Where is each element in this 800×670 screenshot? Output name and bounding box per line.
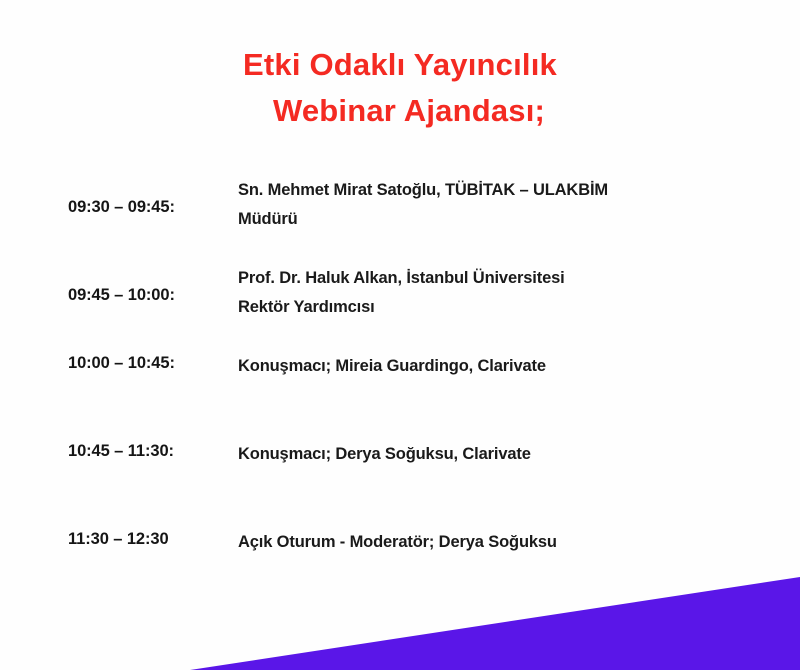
agenda-row-time: 09:30 – 09:45: <box>68 176 238 218</box>
webinar-agenda-slide: Etki Odaklı Yayıncılık Webinar Ajandası;… <box>0 0 800 670</box>
agenda-row-time: 10:00 – 10:45: <box>68 352 238 374</box>
agenda-row: 09:45 – 10:00: Prof. Dr. Haluk Alkan, İs… <box>0 264 800 352</box>
agenda-row-time: 10:45 – 11:30: <box>68 440 238 462</box>
agenda-row-description: Sn. Mehmet Mirat Satoğlu, TÜBİTAK – ULAK… <box>238 176 716 234</box>
agenda-row-description-line-2: Rektör Yardımcısı <box>238 293 716 322</box>
agenda-row-description-line-1: Açık Oturum - Moderatör; Derya Soğuksu <box>238 528 716 557</box>
slide-title: Etki Odaklı Yayıncılık Webinar Ajandası; <box>0 42 800 134</box>
agenda-row-time: 09:45 – 10:00: <box>68 264 238 306</box>
agenda-row-description-line-1: Konuşmacı; Derya Soğuksu, Clarivate <box>238 440 716 469</box>
title-line-2: Webinar Ajandası; <box>0 88 800 134</box>
agenda-row-description: Konuşmacı; Derya Soğuksu, Clarivate <box>238 440 716 469</box>
agenda-row-description: Açık Oturum - Moderatör; Derya Soğuksu <box>238 528 716 557</box>
agenda-row-description: Prof. Dr. Haluk Alkan, İstanbul Üniversi… <box>238 264 716 322</box>
agenda-row: 11:30 – 12:30 Açık Oturum - Moderatör; D… <box>0 528 800 616</box>
agenda-row: 09:30 – 09:45: Sn. Mehmet Mirat Satoğlu,… <box>0 176 800 264</box>
agenda-row-description: Konuşmacı; Mireia Guardingo, Clarivate <box>238 352 716 381</box>
agenda-list: 09:30 – 09:45: Sn. Mehmet Mirat Satoğlu,… <box>0 176 800 616</box>
agenda-row-description-line-1: Prof. Dr. Haluk Alkan, İstanbul Üniversi… <box>238 264 716 293</box>
agenda-row-description-line-2: Müdürü <box>238 205 716 234</box>
agenda-row-time: 11:30 – 12:30 <box>68 528 238 550</box>
agenda-row-description-line-1: Sn. Mehmet Mirat Satoğlu, TÜBİTAK – ULAK… <box>238 176 716 205</box>
title-line-1: Etki Odaklı Yayıncılık <box>0 42 800 88</box>
agenda-row-description-line-1: Konuşmacı; Mireia Guardingo, Clarivate <box>238 352 716 381</box>
agenda-row: 10:00 – 10:45: Konuşmacı; Mireia Guardin… <box>0 352 800 440</box>
agenda-row: 10:45 – 11:30: Konuşmacı; Derya Soğuksu,… <box>0 440 800 528</box>
